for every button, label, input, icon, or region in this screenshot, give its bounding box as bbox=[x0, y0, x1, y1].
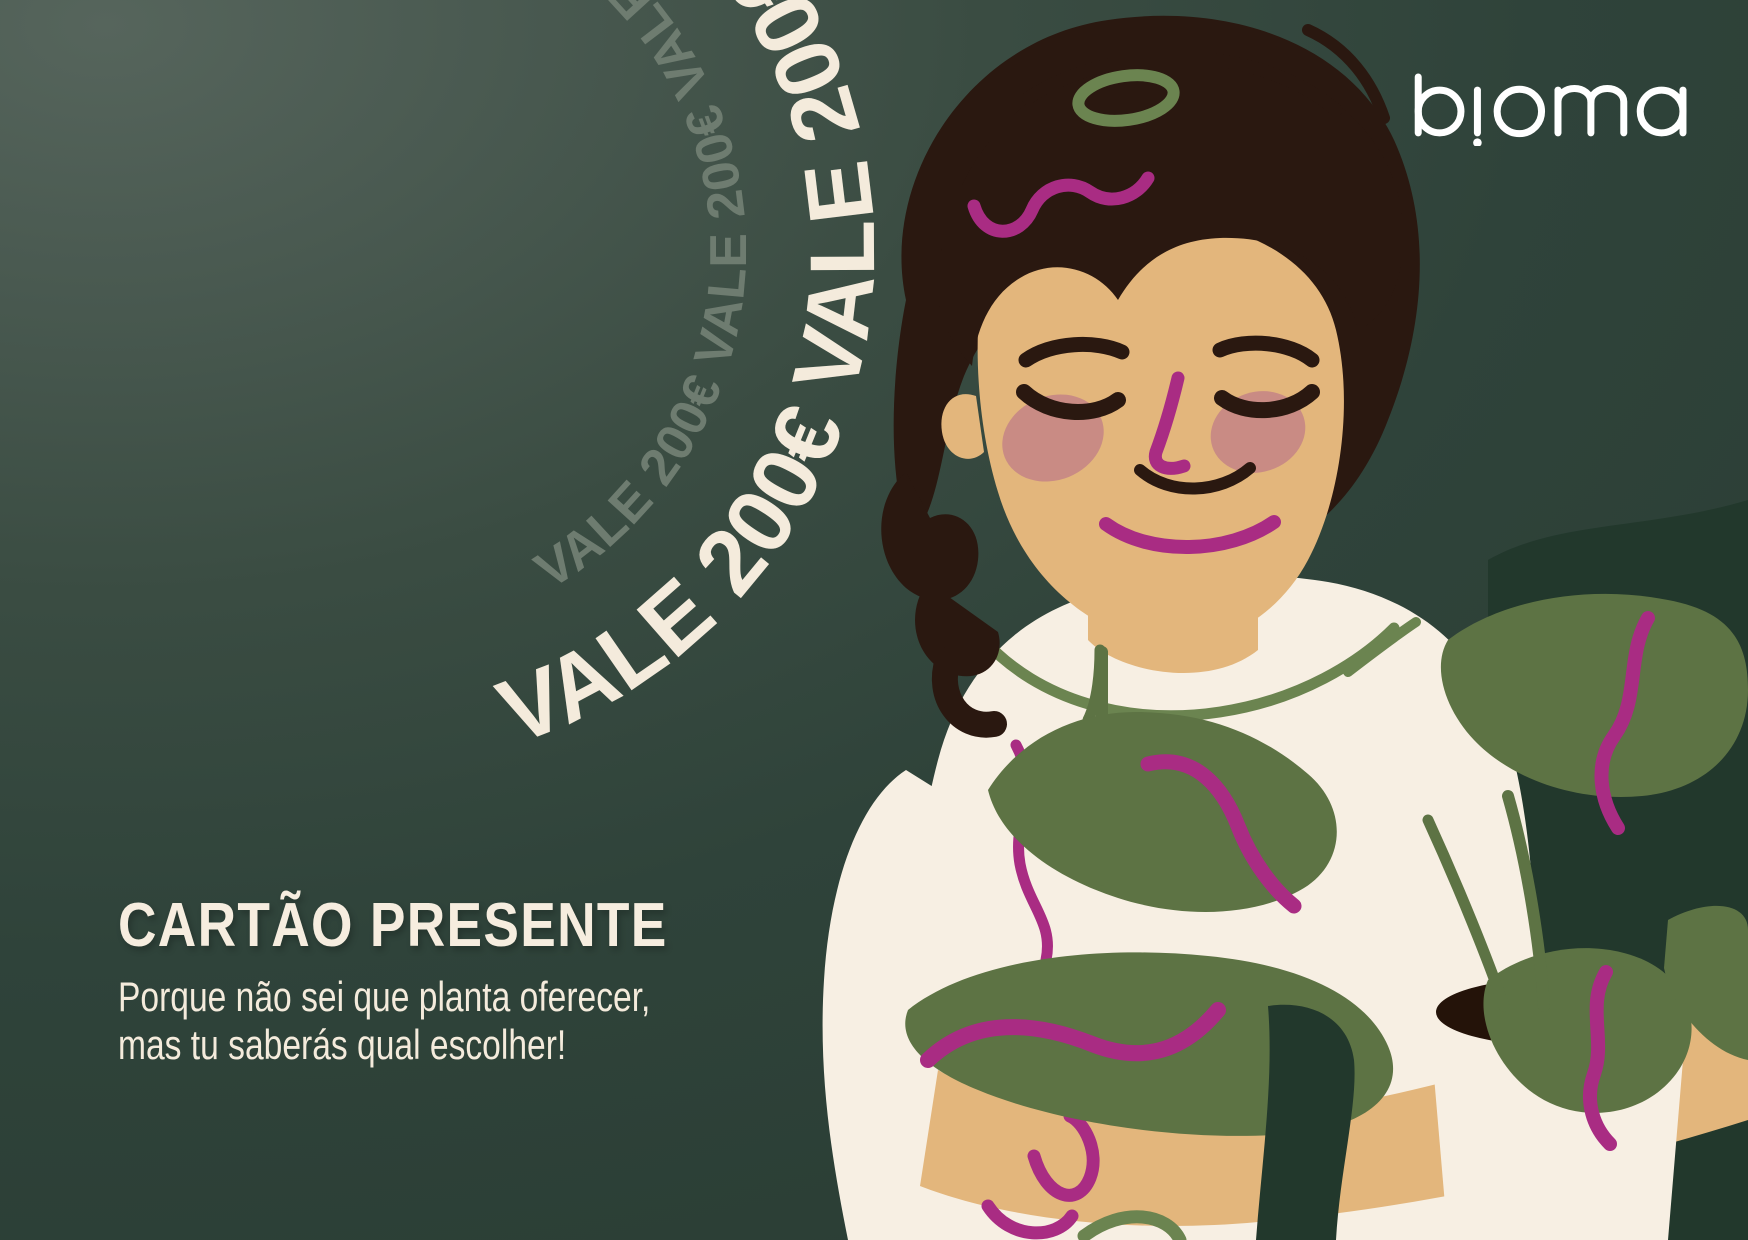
page-title: CARTÃO PRESENTE bbox=[118, 896, 806, 957]
subtitle-line-2: mas tu saberás qual escolher! bbox=[118, 1021, 758, 1070]
illustration-woman-with-plant bbox=[788, 0, 1748, 1240]
subtitle: Porque não sei que planta oferecer, mas … bbox=[118, 973, 758, 1070]
subtitle-line-1: Porque não sei que planta oferecer, bbox=[118, 973, 758, 1022]
copy-block: CARTÃO PRESENTE Porque não sei que plant… bbox=[118, 896, 918, 1070]
gift-card-banner: VALE 200€ VALE 200€ VALE 200€ VALE 200€ … bbox=[0, 0, 1748, 1240]
